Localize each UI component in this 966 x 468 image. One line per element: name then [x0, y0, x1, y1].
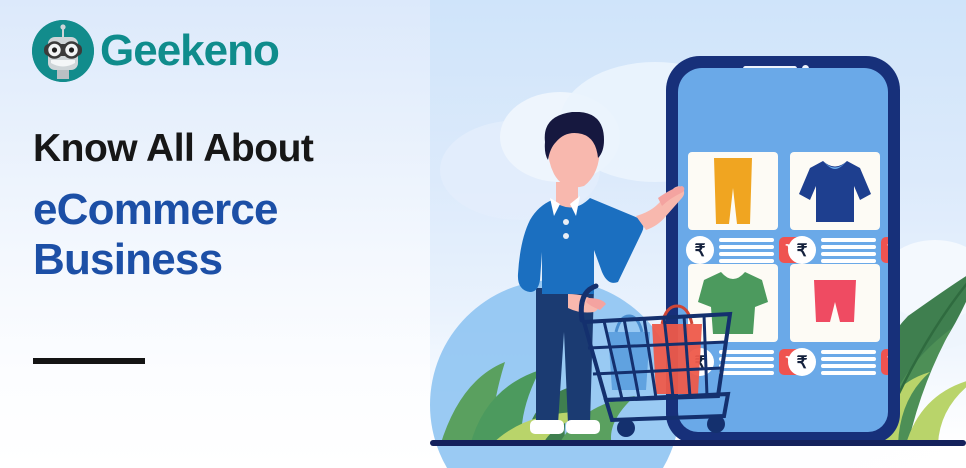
trousers-icon: [688, 152, 778, 230]
shorts-icon: [790, 264, 880, 342]
product-detail-lines: [719, 238, 774, 263]
product-detail-lines: [821, 238, 876, 263]
headline-line-1: Know All About: [33, 128, 433, 169]
add-to-cart-button-shorts[interactable]: [881, 349, 888, 375]
shopping-trolley: [578, 278, 758, 438]
headline-block: Know All About eCommerce Business: [33, 128, 433, 284]
product-meta-sweater: ₹: [788, 236, 888, 264]
price-badge-sweater: ₹: [788, 236, 816, 264]
ecommerce-banner: Geekeno Know All About eCommerce Busines…: [0, 0, 966, 468]
shopping-cart-icon: [887, 355, 889, 370]
robot-face-icon: [32, 20, 94, 82]
product-card-shorts[interactable]: [790, 264, 880, 342]
product-card-trousers[interactable]: [688, 152, 778, 230]
headline-underline-rule: [33, 358, 145, 364]
ground-line: [430, 440, 966, 446]
shopping-cart-icon: [887, 243, 889, 258]
product-card-sweater[interactable]: [790, 152, 880, 230]
brand-name: Geekeno: [100, 29, 279, 73]
brand-logo[interactable]: Geekeno: [32, 20, 279, 82]
add-to-cart-button-sweater[interactable]: [881, 237, 888, 263]
headline-line-2: eCommerce: [33, 185, 433, 234]
price-badge-shorts: ₹: [788, 348, 816, 376]
price-badge-trousers: ₹: [686, 236, 714, 264]
sweater-icon: [790, 152, 880, 230]
product-detail-lines: [821, 350, 876, 375]
headline-line-3: Business: [33, 235, 433, 284]
product-meta-shorts: ₹: [788, 348, 888, 376]
